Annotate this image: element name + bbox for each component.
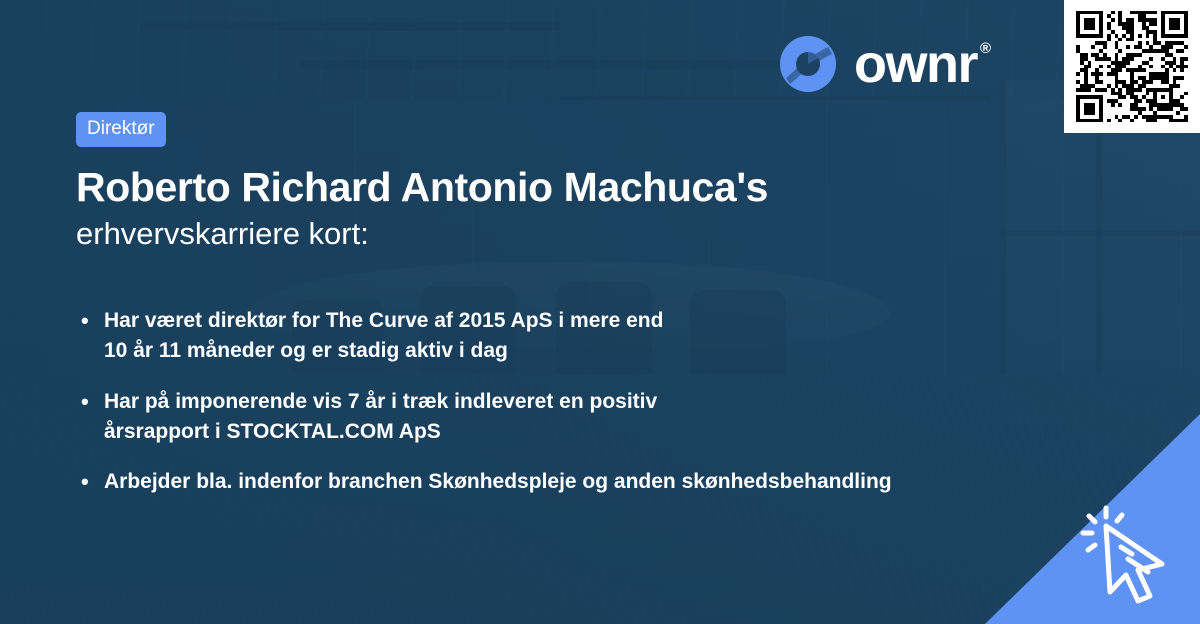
mouse-cursor-click-icon: [1076, 500, 1186, 610]
bullet-line: 10 år 11 måneder og er stadig aktiv i da…: [104, 336, 866, 366]
logo-text: ownr: [854, 37, 977, 91]
ownr-wordmark: ownr ®: [854, 37, 990, 91]
page-subtitle: erhvervskarriere kort:: [76, 215, 1076, 252]
ownr-logo[interactable]: ownr ®: [778, 33, 990, 95]
qr-code-icon[interactable]: [1064, 0, 1200, 133]
career-highlights-list: Har været direktør for The Curve af 2015…: [76, 306, 1076, 497]
ownr-circle-swirl-icon: [778, 34, 838, 94]
list-item: Har på imponerende vis 7 år i træk indle…: [76, 387, 866, 447]
bullet-line: Har været direktør for The Curve af 2015…: [104, 306, 866, 336]
role-badge: Direktør: [76, 112, 166, 147]
list-item: Har været direktør for The Curve af 2015…: [76, 306, 866, 366]
qr-code-matrix: [1076, 11, 1188, 123]
bullet-line: Arbejder bla. indenfor branchen Skønheds…: [104, 467, 1076, 497]
page-title: Roberto Richard Antonio Machuca's: [76, 165, 1076, 211]
business-career-card: ownr ® Direktør Roberto Richard Antonio …: [0, 0, 1200, 624]
list-item: Arbejder bla. indenfor branchen Skønheds…: [76, 467, 1076, 497]
registered-mark: ®: [980, 41, 990, 56]
bullet-line: årsrapport i STOCKTAL.COM ApS: [104, 417, 866, 447]
card-content: Direktør Roberto Richard Antonio Machuca…: [76, 112, 1076, 518]
bullet-line: Har på imponerende vis 7 år i træk indle…: [104, 387, 866, 417]
